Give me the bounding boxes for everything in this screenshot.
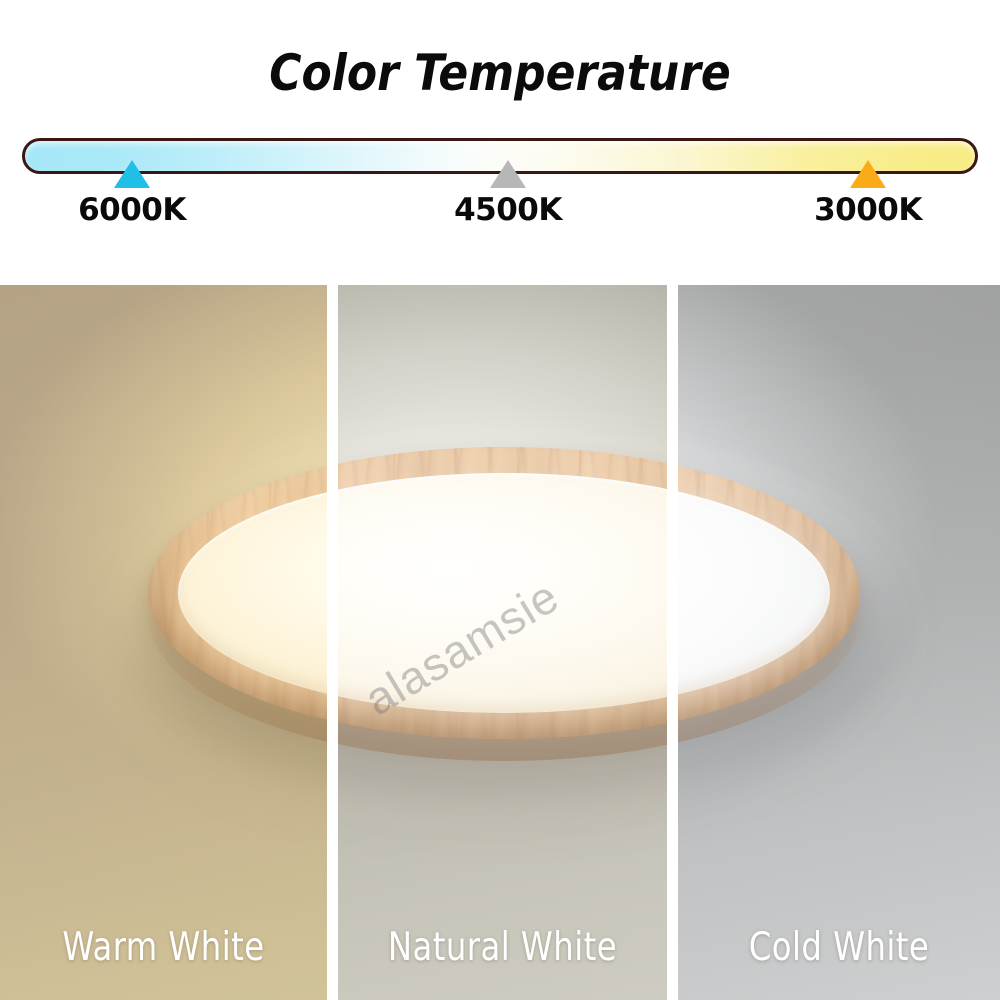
page-title: Color Temperature	[60, 44, 940, 102]
scene-cold	[678, 285, 1000, 1000]
marker-triangle-6000k[interactable]	[114, 160, 150, 188]
comparison-photo-strip: alasamsie Warm White Natural White Cold …	[0, 285, 1000, 1000]
ceiling-lamp-cold	[678, 447, 860, 739]
panel-caption-warm-white: Warm White	[13, 925, 314, 970]
scale-label-4500k: 4500K	[398, 192, 618, 228]
scene-warm	[0, 285, 327, 1000]
comparison-panel-natural-white[interactable]	[338, 285, 667, 1000]
comparison-panel-cold-white[interactable]	[678, 285, 1000, 1000]
diffuser-edge-highlight	[338, 473, 667, 713]
scene-natural	[338, 285, 667, 1000]
infographic-page: Color Temperature 6000K 4500K 3000K	[0, 0, 1000, 1000]
panel-divider-2	[667, 285, 678, 1000]
comparison-panel-warm-white[interactable]	[0, 285, 327, 1000]
ceiling-lamp-natural	[338, 447, 667, 739]
panel-caption-natural-white: Natural White	[351, 925, 654, 970]
panel-caption-cold-white: Cold White	[691, 925, 987, 970]
color-temperature-scale: 6000K 4500K 3000K	[0, 130, 1000, 250]
marker-triangle-3000k[interactable]	[850, 160, 886, 188]
scale-label-6000k: 6000K	[22, 192, 242, 228]
panel-divider-1	[327, 285, 338, 1000]
marker-triangle-4500k[interactable]	[490, 160, 526, 188]
scale-label-3000k: 3000K	[758, 192, 978, 228]
ceiling-lamp-warm	[148, 447, 327, 739]
